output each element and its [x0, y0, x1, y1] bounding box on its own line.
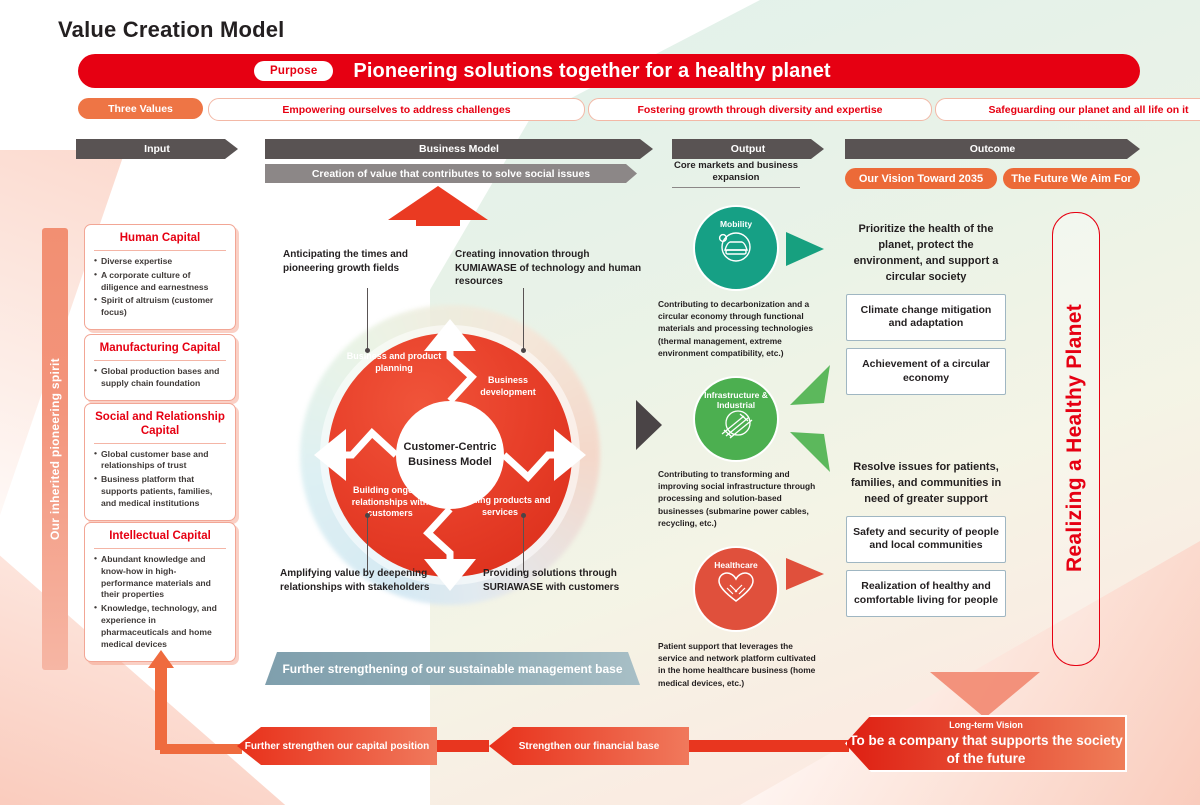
capital-list: Abundant knowledge and know-how in high-… — [94, 554, 226, 651]
outcome-pill-vision-2035[interactable]: Our Vision Toward 2035 — [845, 168, 997, 189]
upward-red-arrow-icon — [378, 186, 498, 226]
leader-dot-bottom-right — [521, 513, 526, 518]
capital-card-human: Human Capital Diverse expertise A corpor… — [84, 224, 236, 330]
capital-item: Global customer base and relationships o… — [94, 449, 226, 473]
value-chip-2: Fostering growth through diversity and e… — [588, 98, 932, 121]
cycle-segment-products: Providing products and services — [448, 495, 552, 518]
capital-title: Manufacturing Capital — [94, 342, 226, 361]
outcome-box-climate: Climate change mitigation and adaptation — [846, 294, 1006, 341]
capital-item: Diverse expertise — [94, 256, 226, 268]
cycle-segment-planning: Business and product planning — [342, 351, 446, 374]
purpose-statement: Pioneering solutions together for a heal… — [353, 60, 830, 83]
car-icon — [714, 229, 758, 263]
capital-item: Abundant knowledge and know-how in high-… — [94, 554, 226, 601]
outcome-box-healthy-living: Realization of healthy and comfortable l… — [846, 570, 1006, 617]
leader-line-top-left — [367, 288, 368, 350]
output-label: Infrastructure & Industrial — [695, 390, 777, 410]
vision-statement: To be a company that supports the societ… — [847, 732, 1125, 767]
output-description-infrastructure: Contributing to transforming and improvi… — [658, 468, 818, 529]
three-values-label: Three Values — [78, 98, 203, 119]
capital-item: A corporate culture of diligence and ear… — [94, 270, 226, 294]
leader-line-bottom-left — [367, 515, 368, 573]
upward-orange-arrow-icon — [148, 650, 174, 750]
stage-outcome: Outcome — [845, 139, 1140, 159]
output-arrow-infra-down-icon — [786, 432, 830, 472]
cycle-callout-amplifying: Amplifying value by deepening relationsh… — [280, 567, 460, 594]
stage-output: Output — [672, 139, 824, 159]
vision-kicker: Long-term Vision — [949, 720, 1023, 730]
capital-title: Intellectual Capital — [94, 530, 226, 549]
cycle-segment-development: Business development — [460, 375, 556, 398]
capital-item: Business platform that supports patients… — [94, 474, 226, 510]
stage-business-model: Business Model — [265, 139, 653, 159]
pioneering-spirit-label: Our inherited pioneering spirit — [42, 228, 68, 670]
three-values-row: Three Values Empowering ourselves to add… — [78, 98, 1140, 119]
outcome-pill-future[interactable]: The Future We Aim For — [1003, 168, 1140, 189]
cable-icon — [714, 410, 758, 440]
realizing-healthy-planet-label: Realizing a Healthy Planet — [1052, 212, 1098, 664]
chevron-right-icon — [636, 400, 662, 450]
output-circle-mobility: Mobility — [693, 205, 779, 291]
flow-connector-left — [160, 744, 242, 754]
flow-connector-right — [689, 740, 849, 752]
downward-orange-arrow-icon — [930, 672, 1040, 718]
cycle-callout-suriawase: Providing solutions through SURIAWASE wi… — [483, 567, 658, 594]
customer-centric-cycle-diagram: Customer-Centric Business Model Business… — [300, 305, 600, 605]
capital-list: Global customer base and relationships o… — [94, 449, 226, 510]
output-arrow-healthcare-icon — [786, 558, 824, 590]
cycle-callout-anticipating: Anticipating the times and pioneering gr… — [283, 248, 453, 275]
output-arrow-infra-up-icon — [786, 365, 830, 405]
flow-capital-position: Further strengthen our capital position — [237, 727, 437, 765]
leader-dot-bottom-left — [365, 513, 370, 518]
leader-line-bottom-right — [523, 515, 524, 573]
purpose-chip: Purpose — [254, 61, 333, 81]
heart-hands-icon — [714, 570, 758, 604]
outcome-heading: Prioritize the health of the planet, pro… — [846, 222, 1006, 286]
leader-line-top-right — [523, 288, 524, 350]
cycle-callout-kumiawase-text: Creating innovation through KUMIAWASE of… — [455, 249, 641, 287]
value-chip-3: Safeguarding our planet and all life on … — [935, 98, 1200, 121]
cycle-callout-kumiawase: Creating innovation through KUMIAWASE of… — [455, 248, 645, 289]
value-chip-1: Empowering ourselves to address challeng… — [208, 98, 585, 121]
outcome-heading: Resolve issues for patients, families, a… — [846, 460, 1006, 508]
output-label: Healthcare — [714, 560, 757, 570]
capital-card-intellectual: Intellectual Capital Abundant knowledge … — [84, 522, 236, 662]
capital-card-manufacturing: Manufacturing Capital Global production … — [84, 334, 236, 401]
output-subtitle: Core markets and business expansion — [672, 160, 800, 188]
stage-input: Input — [76, 139, 238, 159]
value-creation-model-canvas: Value Creation Model Purpose Pioneering … — [0, 0, 1200, 805]
leader-dot-top-right — [521, 348, 526, 353]
capital-card-social: Social and Relationship Capital Global c… — [84, 403, 236, 521]
capital-list: Diverse expertise A corporate culture of… — [94, 256, 226, 319]
output-description-mobility: Contributing to decarbonization and a ci… — [658, 298, 818, 359]
outcome-panel-planet: Prioritize the health of the planet, pro… — [846, 222, 1006, 402]
output-description-healthcare: Patient support that leverages the servi… — [658, 640, 818, 689]
output-circle-infrastructure: Infrastructure & Industrial — [693, 376, 779, 462]
outcome-box-circular: Achievement of a circular economy — [846, 348, 1006, 395]
capital-item: Global production bases and supply chain… — [94, 366, 226, 390]
output-circle-healthcare: Healthcare — [693, 546, 779, 632]
capital-item: Spirit of altruism (customer focus) — [94, 295, 226, 319]
capital-title: Human Capital — [94, 232, 226, 251]
sustainable-base-banner: Further strengthening of our sustainable… — [265, 652, 640, 685]
output-arrow-mobility-icon — [786, 232, 824, 266]
page-title: Value Creation Model — [58, 17, 285, 43]
leader-dot-top-left — [365, 348, 370, 353]
output-label: Mobility — [720, 219, 752, 229]
cycle-segment-relationships: Building ongoing relationships with cust… — [336, 485, 444, 520]
flow-financial-base: Strengthen our financial base — [489, 727, 689, 765]
capital-list: Global production bases and supply chain… — [94, 366, 226, 390]
capital-title: Social and Relationship Capital — [94, 411, 226, 444]
outcome-box-safety: Safety and security of people and local … — [846, 516, 1006, 563]
purpose-bar: Purpose Pioneering solutions together fo… — [78, 54, 1140, 88]
business-model-subtitle: Creation of value that contributes to so… — [265, 164, 637, 183]
long-term-vision-banner: Long-term Vision To be a company that su… — [845, 715, 1127, 772]
capital-item: Knowledge, technology, and experience in… — [94, 603, 226, 650]
outcome-panel-people: Resolve issues for patients, families, a… — [846, 460, 1006, 624]
flow-connector-mid — [437, 740, 489, 752]
